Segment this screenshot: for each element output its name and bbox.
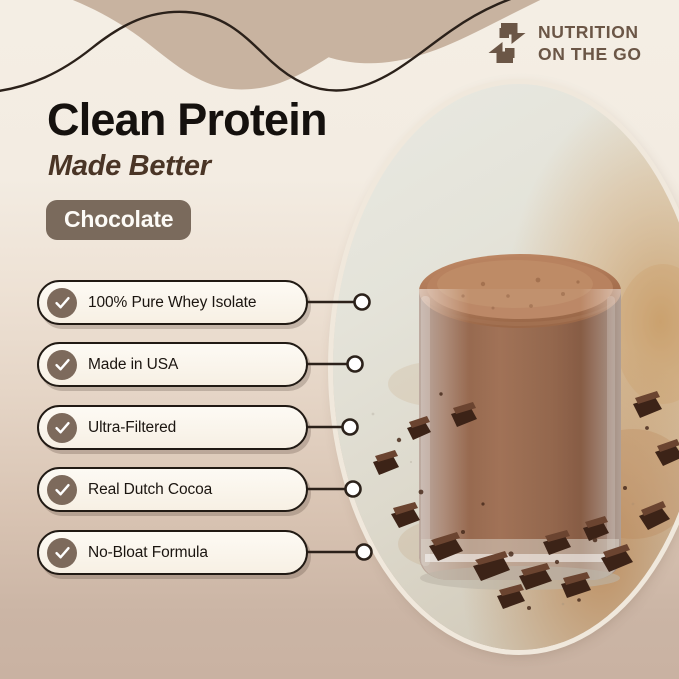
feature-pill[interactable]: Made in USA [37,342,308,387]
feature-pill[interactable]: No-Bloat Formula [37,530,308,575]
feature-label: Real Dutch Cocoa [88,481,212,499]
feature-label: Made in USA [88,356,178,374]
check-icon [47,538,77,568]
check-icon [47,350,77,380]
feature-label: 100% Pure Whey Isolate [88,294,256,312]
feature-label: Ultra-Filtered [88,419,176,437]
check-icon [47,475,77,505]
product-poster: NUTRITION ON THE GO [0,0,679,679]
feature-pill[interactable]: 100% Pure Whey Isolate [37,280,308,325]
feature-pill[interactable]: Ultra-Filtered [37,405,308,450]
check-icon [47,413,77,443]
feature-pill[interactable]: Real Dutch Cocoa [37,467,308,512]
feature-list: 100% Pure Whey IsolateMade in USAUltra-F… [0,0,679,679]
feature-label: No-Bloat Formula [88,544,208,562]
check-icon [47,288,77,318]
